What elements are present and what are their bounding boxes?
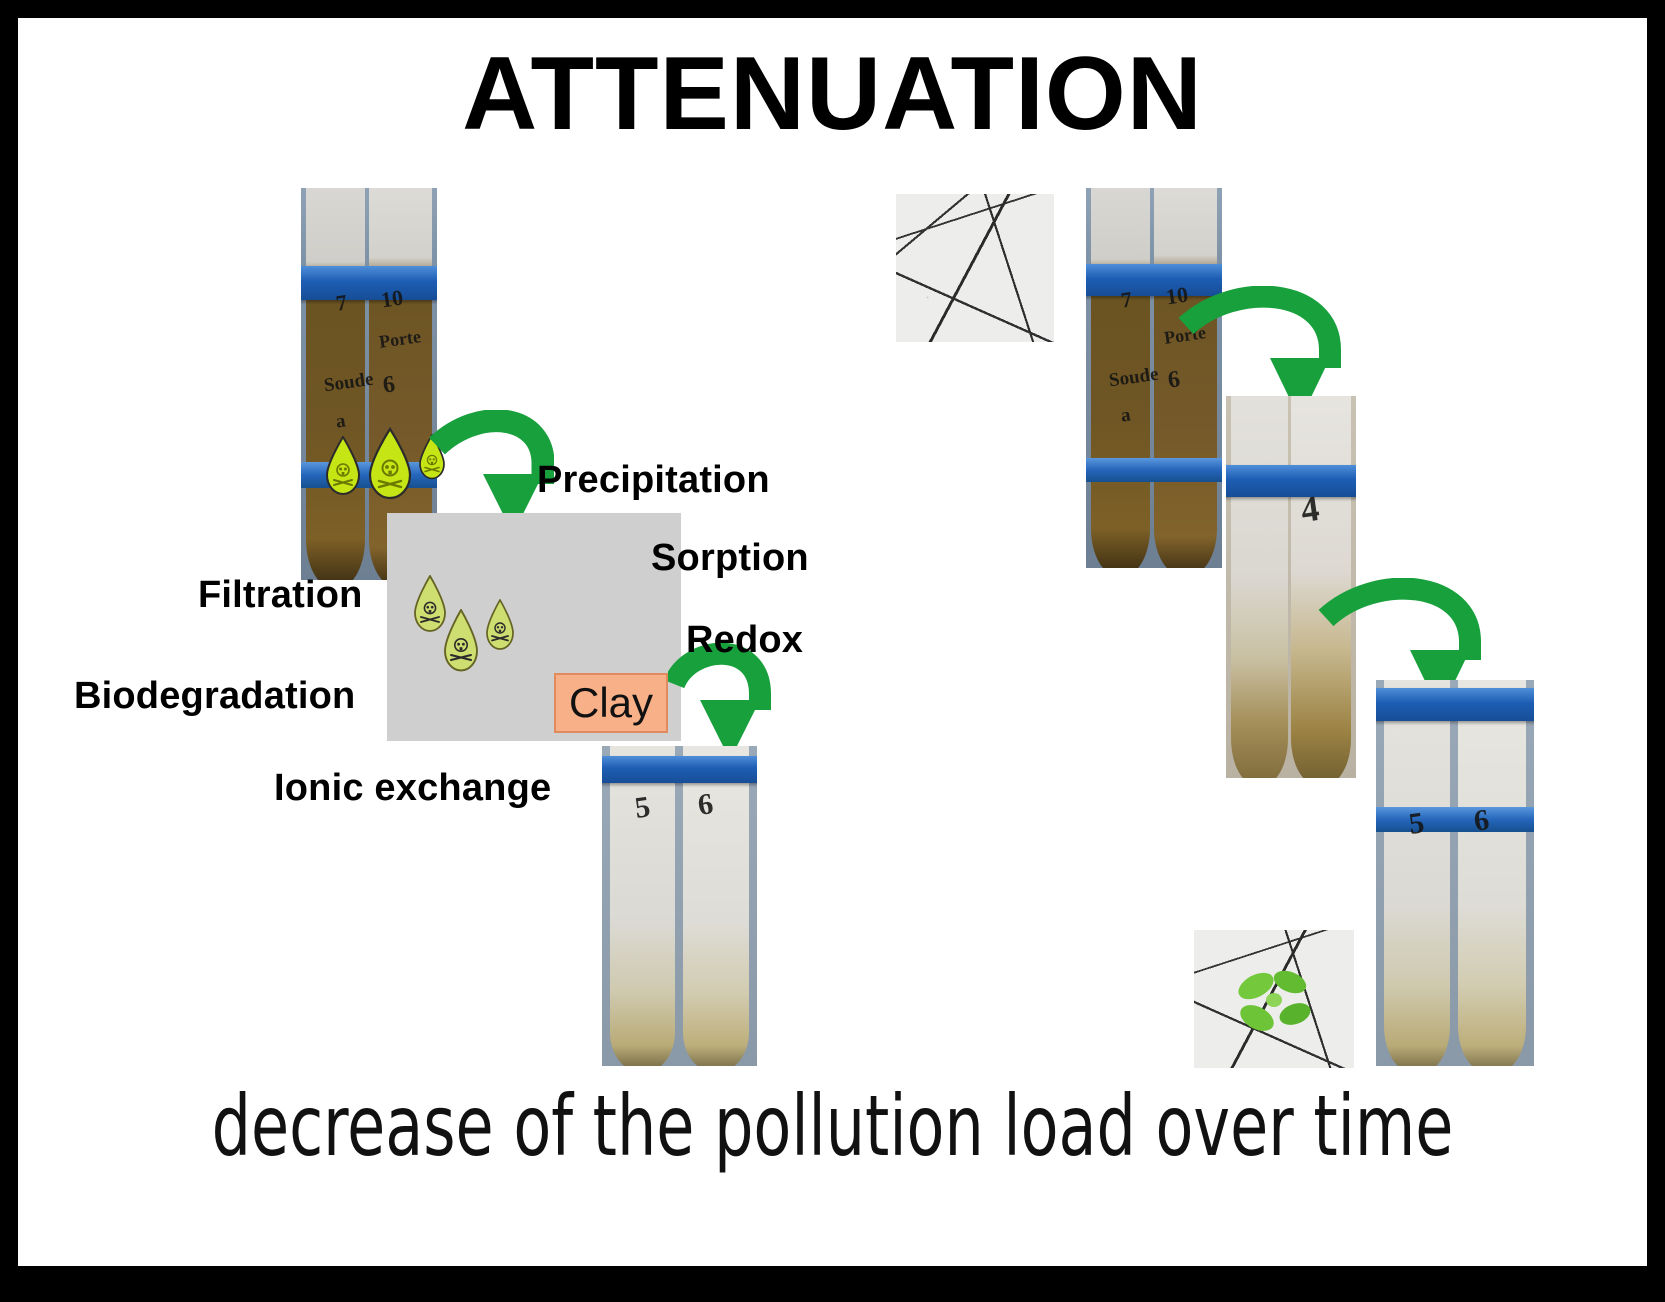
label-precipitation: Precipitation bbox=[537, 459, 770, 502]
photo-cracked-dry-earth bbox=[896, 194, 1054, 342]
tube-mark: 10 bbox=[380, 285, 405, 314]
seedling-icon bbox=[1194, 930, 1354, 1068]
toxic-droplet-icon bbox=[363, 427, 417, 503]
label-biodegradation: Biodegradation bbox=[74, 675, 355, 718]
clay-label-text: Clay bbox=[569, 679, 653, 727]
photo-test-tubes-clear-left: 5 6 bbox=[602, 746, 757, 1066]
photo-test-tubes-clear-right: 5 6 bbox=[1376, 680, 1534, 1066]
page-caption: decrease of the pollution load over time bbox=[165, 1080, 1501, 1172]
clay-label-chip: Clay bbox=[554, 673, 668, 733]
label-sorption: Sorption bbox=[651, 537, 809, 580]
slide-canvas: ATTENUATION 7 10 Porte Soude 6 a bbox=[18, 18, 1647, 1266]
label-filtration: Filtration bbox=[198, 574, 363, 617]
label-redox: Redox bbox=[686, 619, 803, 662]
label-ionic-exchange: Ionic exchange bbox=[274, 767, 551, 810]
photo-seedling-in-cracked-earth bbox=[1194, 930, 1354, 1068]
page-title: ATTENUATION bbox=[18, 40, 1647, 149]
toxic-droplet-icon bbox=[481, 599, 519, 653]
toxic-droplet-icon bbox=[438, 609, 484, 675]
toxic-droplet-icon bbox=[321, 436, 365, 498]
